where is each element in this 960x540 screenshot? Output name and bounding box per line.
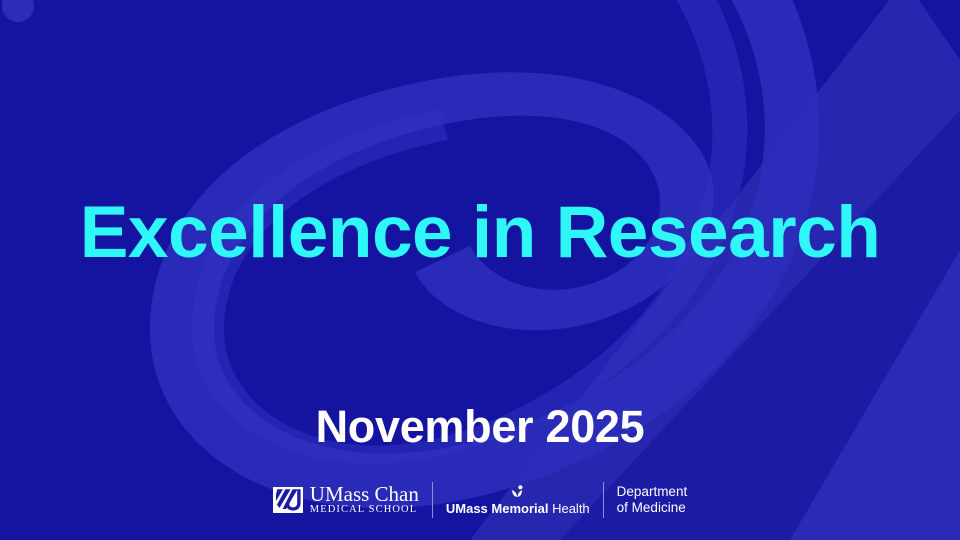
umass-memorial-name-light: Health bbox=[548, 501, 589, 516]
umass-chan-subtitle: MEDICAL SCHOOL bbox=[310, 504, 417, 516]
department-line-1: Department bbox=[617, 484, 688, 500]
department-line-2: of Medicine bbox=[617, 500, 686, 516]
slide-subtitle-date: November 2025 bbox=[0, 404, 960, 449]
department-of-medicine-label: Department of Medicine bbox=[617, 477, 688, 523]
umass-memorial-wordmark: UMass Memorial Health bbox=[446, 502, 590, 516]
logo-divider-1 bbox=[432, 482, 433, 518]
umass-chan-wordmark: UMass Chan MEDICAL SCHOOL bbox=[310, 484, 419, 516]
umass-memorial-health-logo: UMass Memorial Health bbox=[446, 477, 590, 523]
umass-chan-logo: UMass Chan MEDICAL SCHOOL bbox=[273, 477, 419, 523]
logo-lockup-row: UMass Chan MEDICAL SCHOOL UMass Memorial… bbox=[0, 477, 960, 523]
logo-divider-2 bbox=[603, 482, 604, 518]
umass-chan-u-mark-icon bbox=[273, 487, 303, 513]
umass-chan-name: UMass Chan bbox=[310, 484, 419, 504]
umass-memorial-name-bold: UMass Memorial bbox=[446, 501, 549, 516]
umass-memorial-tulip-icon bbox=[509, 484, 526, 501]
slide-title: Excellence in Research bbox=[0, 196, 960, 269]
presentation-title-slide: Excellence in Research November 2025 UMa… bbox=[0, 0, 960, 540]
